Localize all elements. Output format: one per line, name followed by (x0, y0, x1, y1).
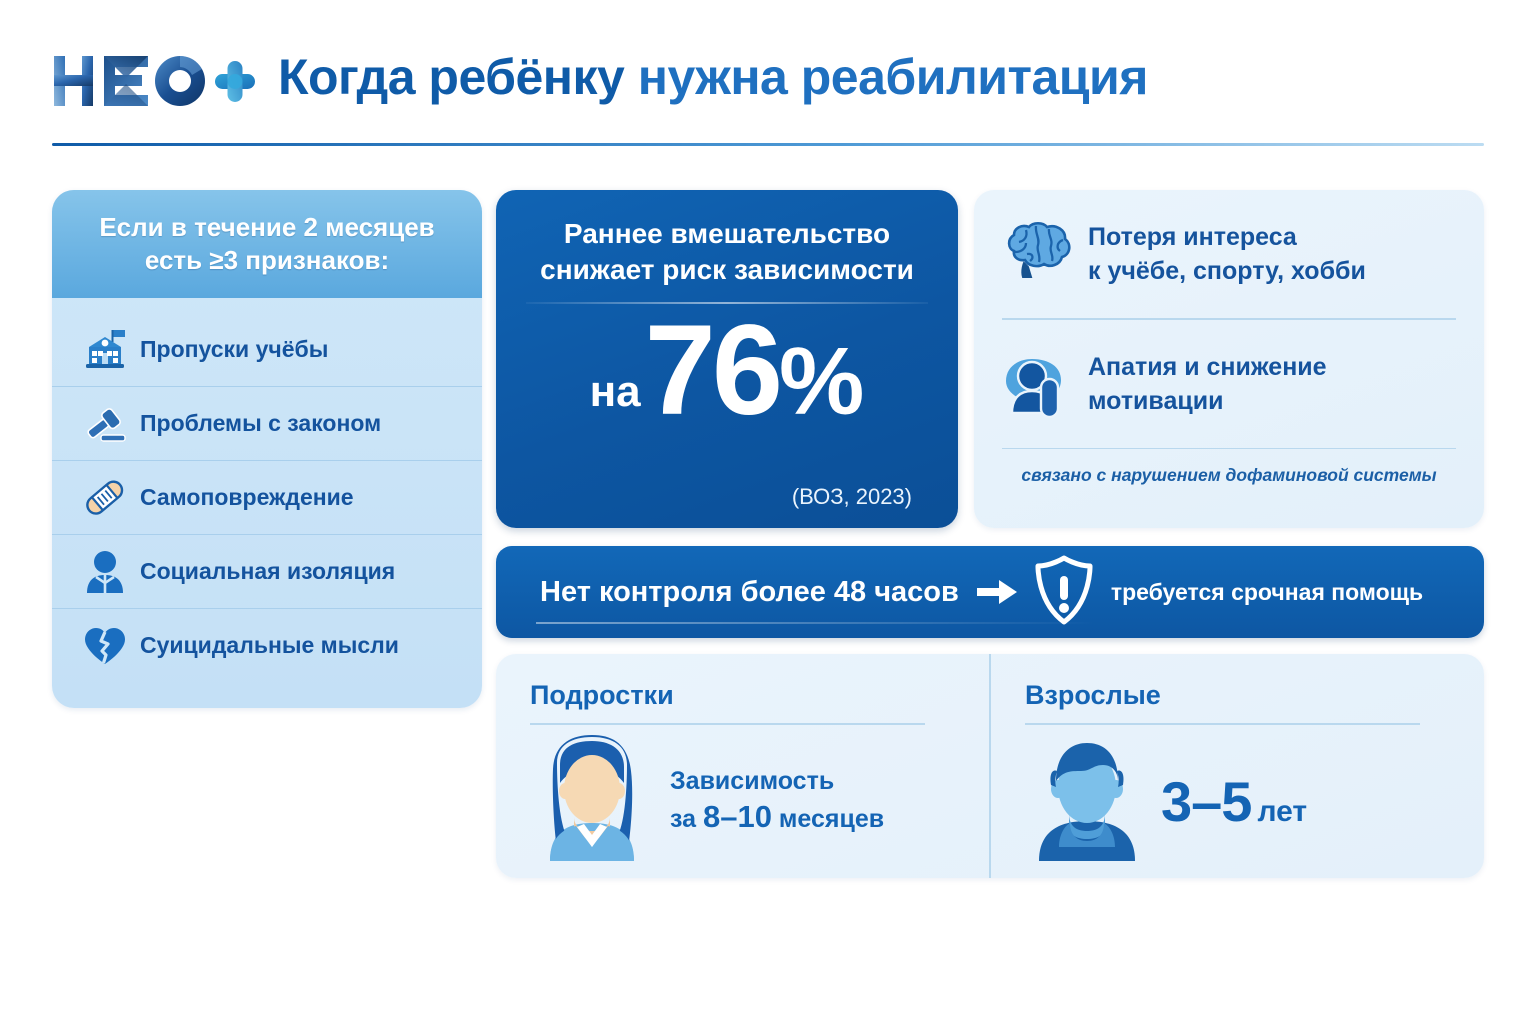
dopamine-note: связано с нарушением дофаминовой системы (974, 449, 1484, 486)
alert-glow (536, 622, 1096, 624)
header-divider (52, 143, 1484, 146)
alert-main-text: Нет контроля более 48 часов (540, 576, 959, 609)
adults-divider (1025, 723, 1420, 725)
teens-body: Зависимость за 8–10 месяцев (530, 735, 959, 868)
teens-duration-suffix: месяцев (779, 805, 884, 833)
list-item: Потеря интереса к учёбе, спорту, хобби (974, 190, 1484, 318)
list-item: Суицидальные мысли (52, 608, 482, 682)
title-part-2: нужна реабилитация (638, 49, 1148, 105)
adults-column: Взрослые 3 (989, 654, 1484, 878)
broken-heart-icon (78, 622, 132, 670)
teens-duration-prefix: за (670, 805, 696, 833)
signs-heading-line-1: Если в течение 2 месяцев (99, 211, 434, 244)
stat-title-line-1: Раннее вмешательство (522, 216, 932, 252)
adults-duration-unit: лет (1257, 795, 1307, 828)
stat-prefix: на (590, 367, 641, 417)
list-item: Проблемы с законом (52, 386, 482, 460)
stat-title-line-2: снижает риск зависимости (522, 252, 932, 288)
teens-line-1: Зависимость (670, 764, 884, 798)
sign-label: Проблемы с законом (140, 410, 381, 437)
header: Когда ребёнку нужна реабилитация (52, 46, 1484, 146)
list-item: Социальная изоляция (52, 534, 482, 608)
page-title: Когда ребёнку нужна реабилитация (278, 46, 1148, 108)
stat-unit: % (779, 317, 864, 447)
sign-label: Самоповреждение (140, 484, 354, 511)
teens-heading: Подростки (530, 680, 959, 711)
symptom-line-1: Апатия и снижение (1088, 353, 1327, 381)
list-item: Пропуски учёбы (52, 312, 482, 386)
school-icon (78, 325, 132, 373)
age-comparison-card: Подростки (496, 654, 1484, 878)
stat-value-group: на 76 % (496, 306, 958, 447)
symptom-line-2: мотивации (1088, 387, 1223, 415)
symptom-line-1: Потеря интереса (1088, 223, 1297, 251)
symptom-line-2: к учёбе, спорту, хобби (1088, 257, 1366, 285)
alert-result-text: требуется срочная помощь (1111, 579, 1423, 606)
list-item: Самоповреждение (52, 460, 482, 534)
brain-icon (1002, 221, 1088, 287)
teens-text: Зависимость за 8–10 месяцев (670, 764, 884, 838)
adults-body: 3–5лет (1025, 735, 1454, 868)
adults-duration-value: 3–5 (1161, 770, 1251, 833)
adults-text: 3–5лет (1161, 769, 1307, 834)
symptoms-card: Потеря интереса к учёбе, спорту, хобби А… (974, 190, 1484, 528)
adults-heading: Взрослые (1025, 680, 1454, 711)
stat-source: (ВОЗ, 2023) (792, 484, 912, 510)
signs-heading-line-2: есть ≥3 признаков: (145, 244, 389, 277)
sign-label: Социальная изоляция (140, 558, 395, 585)
teens-duration-value: 8–10 (703, 799, 772, 834)
adult-man-avatar (1025, 735, 1153, 868)
teen-girl-avatar (530, 735, 658, 868)
signs-card-heading: Если в течение 2 месяцев есть ≥3 признак… (52, 190, 482, 298)
infographic-page: Когда ребёнку нужна реабилитация Если в … (0, 0, 1536, 1024)
shield-exclamation-icon (1033, 555, 1095, 630)
neo-plus-logo (52, 50, 257, 112)
teens-line-2: за 8–10 месяцев (670, 798, 884, 838)
sign-label: Суицидальные мысли (140, 632, 399, 659)
bandage-icon (78, 474, 132, 522)
list-item: Апатия и снижение мотивации (974, 320, 1484, 448)
symptom-text: Потеря интереса к учёбе, спорту, хобби (1088, 220, 1366, 288)
symptom-text: Апатия и снижение мотивации (1088, 350, 1327, 418)
gavel-icon (78, 400, 132, 448)
teens-divider (530, 723, 925, 725)
title-part-1: Когда ребёнку (278, 49, 624, 105)
stat-title: Раннее вмешательство снижает риск зависи… (522, 216, 932, 288)
urgent-alert-banner: Нет контроля более 48 часов требуется ср… (496, 546, 1484, 638)
person-icon (78, 548, 132, 596)
apathy-person-icon (1002, 349, 1088, 419)
stat-value: 76 (645, 306, 779, 436)
signs-list: Пропуски учёбы Проблемы с законом (52, 298, 482, 690)
arrow-right-icon (977, 579, 1017, 605)
early-intervention-stat-card: Раннее вмешательство снижает риск зависи… (496, 190, 958, 528)
sign-label: Пропуски учёбы (140, 336, 328, 363)
signs-checklist-card: Если в течение 2 месяцев есть ≥3 признак… (52, 190, 482, 708)
teens-column: Подростки (496, 654, 989, 878)
